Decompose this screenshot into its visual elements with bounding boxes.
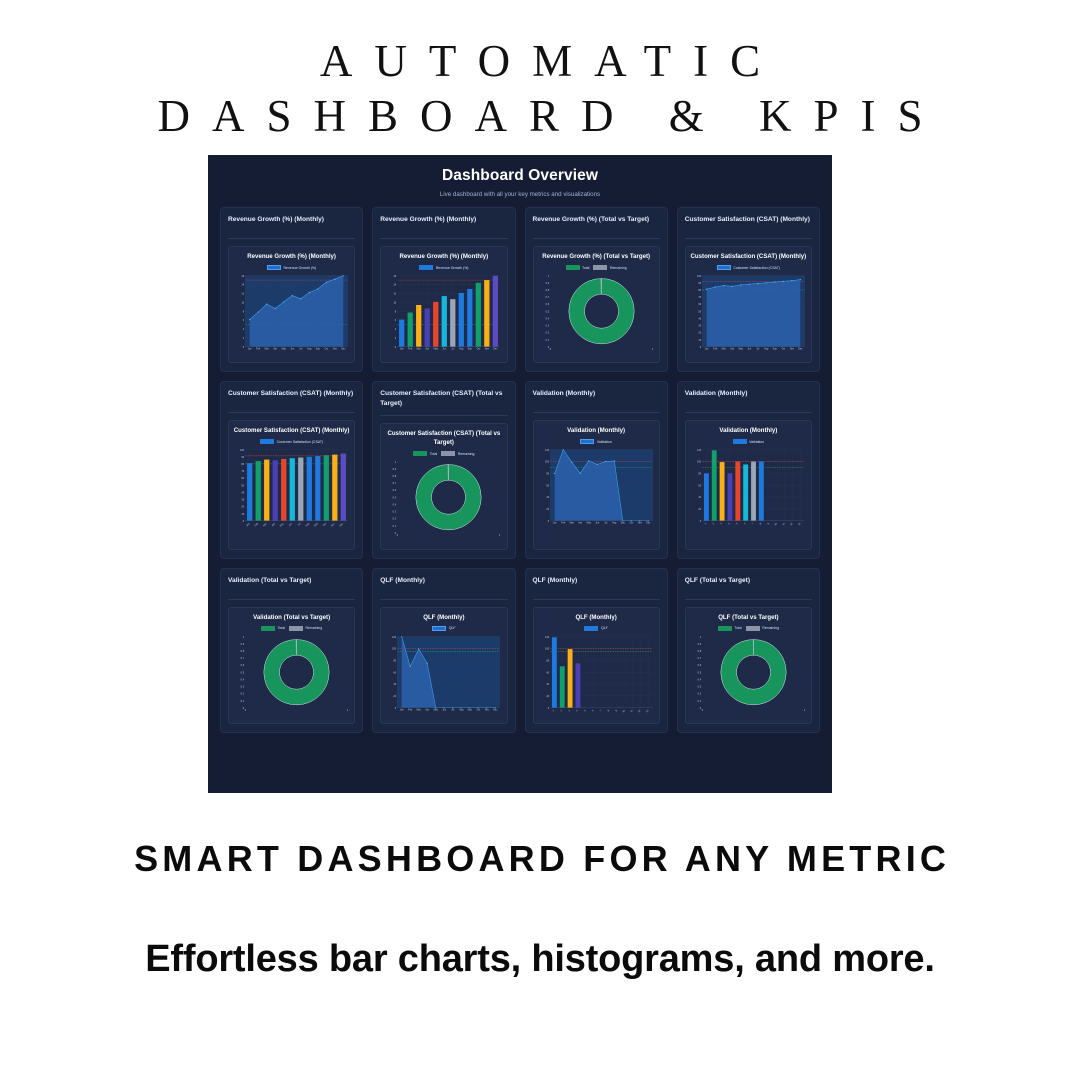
svg-text:11: 11	[629, 708, 633, 712]
chart-title: QLF (Monthly)	[385, 613, 502, 622]
svg-text:Aug: Aug	[459, 708, 464, 711]
card-header-title: Customer Satisfaction (CSAT) (Monthly)	[685, 215, 812, 239]
svg-text:30: 30	[698, 325, 701, 328]
svg-text:40: 40	[546, 496, 549, 499]
svg-text:Jun: Jun	[595, 522, 600, 525]
caption-secondary: Effortless bar charts, histograms, and m…	[0, 938, 1080, 981]
svg-text:Jun: Jun	[443, 348, 448, 351]
legend-swatch	[717, 265, 731, 270]
legend-swatch	[289, 626, 303, 631]
dashboard-screenshot: Dashboard Overview Live dashboard with a…	[208, 155, 832, 793]
svg-text:14: 14	[241, 284, 244, 287]
svg-text:16: 16	[394, 275, 397, 278]
svg-text:Aug: Aug	[307, 348, 312, 351]
svg-text:20: 20	[698, 508, 701, 511]
svg-text:0.9: 0.9	[545, 282, 549, 285]
svg-text:4: 4	[243, 328, 245, 331]
svg-text:May: May	[738, 348, 743, 351]
svg-text:0.6: 0.6	[545, 303, 549, 306]
svg-text:2: 2	[712, 522, 716, 526]
svg-text:Nov: Nov	[637, 522, 642, 525]
svg-text:1: 1	[804, 708, 806, 711]
chart-title: Revenue Growth (%) (Monthly)	[385, 252, 502, 261]
chart-legend: QLF	[538, 626, 655, 631]
dashboard-card[interactable]: Customer Satisfaction (CSAT) (Monthly)Cu…	[677, 207, 820, 372]
chart-container[interactable]: Customer Satisfaction (CSAT) (Monthly)Cu…	[685, 246, 812, 363]
svg-text:6: 6	[743, 522, 747, 526]
chart-title: Validation (Monthly)	[690, 426, 807, 435]
svg-text:Dec: Dec	[493, 348, 498, 351]
legend-item[interactable]: Remaining	[289, 626, 322, 631]
svg-text:Mar: Mar	[569, 522, 573, 525]
svg-text:0.9: 0.9	[393, 468, 397, 471]
svg-text:0.8: 0.8	[545, 289, 549, 292]
svg-text:May: May	[434, 708, 439, 711]
dashboard-header: Dashboard Overview Live dashboard with a…	[208, 155, 832, 207]
svg-text:1: 1	[704, 522, 708, 526]
legend-label: Revenue Growth (%)	[436, 266, 469, 270]
svg-text:0: 0	[547, 706, 549, 709]
svg-text:40: 40	[546, 683, 549, 686]
svg-text:8: 8	[759, 522, 763, 526]
svg-text:7: 7	[751, 522, 755, 526]
svg-text:10: 10	[241, 513, 244, 516]
chart-container[interactable]: QLF (Monthly)QLF020406080100120123456789…	[533, 607, 660, 724]
legend-item[interactable]: Total	[718, 626, 742, 631]
svg-text:0: 0	[245, 708, 247, 711]
svg-text:Dec: Dec	[798, 348, 803, 351]
legend-label: Customer Satisfaction (CSAT)	[733, 266, 780, 270]
legend-swatch	[413, 451, 427, 456]
chart-plot-area[interactable]: 0102030405060708090100JanFebMarAprMayJun…	[233, 447, 350, 532]
card-header-title: Revenue Growth (%) (Monthly)	[228, 215, 355, 239]
headline-line-1: AUTOMATIC	[0, 34, 1080, 88]
svg-text:11: 11	[782, 522, 786, 526]
legend-item[interactable]: Total	[566, 265, 590, 270]
svg-text:Mar: Mar	[417, 708, 421, 711]
svg-text:Apr: Apr	[426, 348, 430, 351]
svg-text:20: 20	[394, 695, 397, 698]
svg-text:13: 13	[645, 708, 649, 712]
card-header-title: Revenue Growth (%) (Monthly)	[380, 215, 507, 239]
svg-text:May: May	[279, 522, 285, 528]
svg-text:50: 50	[698, 310, 701, 313]
legend-swatch	[260, 439, 274, 444]
legend-swatch	[261, 626, 275, 631]
svg-text:Apr: Apr	[730, 348, 734, 351]
chart-legend: Revenue Growth (%)	[385, 265, 502, 270]
chart-container[interactable]: Revenue Growth (%) (Monthly)Revenue Grow…	[228, 246, 355, 363]
svg-text:Feb: Feb	[713, 348, 718, 351]
chart-title: Revenue Growth (%) (Total vs Target)	[538, 252, 655, 261]
legend-swatch	[267, 265, 281, 270]
dashboard-card[interactable]: Validation (Total vs Target)Validation (…	[220, 568, 363, 733]
dashboard-card[interactable]: Validation (Monthly)Validation (Monthly)…	[677, 381, 820, 558]
chart-plot-area[interactable]: 00.10.20.30.40.50.60.70.80.9101	[538, 273, 655, 358]
svg-text:Aug: Aug	[459, 348, 464, 351]
chart-legend: Customer Satisfaction (CSAT)	[690, 265, 807, 270]
legend-item[interactable]: Remaining	[593, 265, 626, 270]
svg-text:100: 100	[544, 647, 549, 650]
svg-text:20: 20	[241, 506, 244, 509]
svg-text:Oct: Oct	[781, 348, 785, 351]
card-header-title: Customer Satisfaction (CSAT) (Monthly)	[228, 389, 355, 413]
svg-text:0: 0	[699, 520, 701, 523]
chart-container[interactable]: Validation (Monthly)Validation0204060801…	[685, 420, 812, 549]
svg-text:12: 12	[394, 293, 397, 296]
svg-text:70: 70	[698, 296, 701, 299]
dashboard-card[interactable]: Revenue Growth (%) (Monthly)Revenue Grow…	[220, 207, 363, 372]
chart-legend: TotalRemaining	[233, 626, 350, 631]
chart-container[interactable]: Revenue Growth (%) (Monthly)Revenue Grow…	[380, 246, 507, 363]
svg-text:2: 2	[559, 708, 563, 712]
svg-text:40: 40	[241, 492, 244, 495]
chart-container[interactable]: Validation (Monthly)Validation0204060801…	[533, 420, 660, 549]
svg-text:120: 120	[544, 449, 549, 452]
svg-text:0.2: 0.2	[545, 332, 549, 335]
svg-text:Aug: Aug	[305, 522, 311, 528]
svg-text:Feb: Feb	[256, 348, 261, 351]
svg-text:20: 20	[546, 695, 549, 698]
legend-swatch	[718, 626, 732, 631]
svg-text:0.9: 0.9	[697, 642, 701, 645]
svg-text:Sep: Sep	[772, 348, 777, 351]
legend-swatch	[746, 626, 760, 631]
svg-text:Feb: Feb	[408, 708, 413, 711]
svg-text:0.1: 0.1	[697, 699, 701, 702]
card-header-title: Validation (Monthly)	[533, 389, 660, 413]
svg-text:0: 0	[243, 346, 245, 349]
chart-container[interactable]: QLF (Total vs Target)TotalRemaining00.10…	[685, 607, 812, 724]
svg-text:Aug: Aug	[612, 522, 617, 525]
chart-title: Validation (Monthly)	[538, 426, 655, 435]
legend-item[interactable]: Customer Satisfaction (CSAT)	[717, 265, 780, 270]
chart-legend: TotalRemaining	[385, 451, 502, 456]
svg-text:Sep: Sep	[620, 522, 625, 525]
svg-text:Jul: Jul	[299, 348, 303, 351]
svg-text:Sep: Sep	[313, 522, 319, 528]
svg-text:0.3: 0.3	[697, 685, 701, 688]
svg-text:0.5: 0.5	[545, 310, 549, 313]
chart-container[interactable]: Customer Satisfaction (CSAT) (Total vs T…	[380, 423, 507, 549]
svg-text:90: 90	[698, 282, 701, 285]
svg-text:Nov: Nov	[485, 708, 490, 711]
chart-plot-area[interactable]: 00.10.20.30.40.50.60.70.80.9101	[690, 634, 807, 719]
chart-legend: Revenue Growth (%)	[233, 265, 350, 270]
legend-item[interactable]: QLF	[432, 626, 455, 631]
svg-text:Nov: Nov	[789, 348, 794, 351]
svg-text:0: 0	[243, 520, 245, 523]
svg-text:20: 20	[698, 332, 701, 335]
card-header-title: Validation (Monthly)	[685, 389, 812, 413]
svg-text:60: 60	[394, 671, 397, 674]
svg-text:70: 70	[241, 470, 244, 473]
svg-text:Dec: Dec	[339, 522, 345, 528]
svg-text:0: 0	[395, 346, 397, 349]
chart-title: Customer Satisfaction (CSAT) (Total vs T…	[385, 429, 502, 447]
svg-text:Oct: Oct	[629, 522, 633, 525]
svg-text:Mar: Mar	[721, 348, 725, 351]
svg-text:60: 60	[698, 485, 701, 488]
svg-text:3: 3	[567, 708, 571, 712]
svg-text:Sep: Sep	[468, 708, 473, 711]
chart-legend: Validation	[690, 439, 807, 444]
svg-text:4: 4	[727, 522, 731, 526]
svg-text:Jan: Jan	[552, 522, 557, 525]
svg-text:0.7: 0.7	[241, 657, 245, 660]
svg-text:1: 1	[552, 708, 556, 712]
svg-text:120: 120	[697, 449, 702, 452]
svg-text:8: 8	[395, 310, 397, 313]
dashboard-card[interactable]: Validation (Monthly)Validation (Monthly)…	[525, 381, 668, 558]
dashboard-card[interactable]: Revenue Growth (%) (Monthly)Revenue Grow…	[372, 207, 515, 372]
chart-container[interactable]: Validation (Total vs Target)TotalRemaini…	[228, 607, 355, 724]
legend-item[interactable]: Validation	[733, 439, 765, 444]
svg-text:100: 100	[697, 275, 702, 278]
chart-plot-area[interactable]: 0102030405060708090100JanFebMarAprMayJun…	[690, 273, 807, 358]
svg-text:0.2: 0.2	[393, 518, 397, 521]
legend-label: Customer Satisfaction (CSAT)	[277, 440, 324, 444]
svg-text:Sep: Sep	[468, 348, 473, 351]
svg-text:2: 2	[395, 337, 397, 340]
chart-plot-area[interactable]: 00.10.20.30.40.50.60.70.80.9101	[385, 459, 502, 544]
legend-label: QLF	[601, 626, 608, 630]
svg-text:2: 2	[243, 337, 245, 340]
svg-text:0: 0	[395, 706, 397, 709]
svg-text:Dec: Dec	[493, 708, 498, 711]
legend-label: Total	[430, 452, 437, 456]
legend-label: Total	[734, 626, 741, 630]
chart-plot-area[interactable]: 0246810121416JanFebMarAprMayJunJulAugSep…	[385, 273, 502, 358]
svg-text:Mar: Mar	[417, 348, 421, 351]
dashboard-card[interactable]: QLF (Monthly)QLF (Monthly)QLF02040608010…	[372, 568, 515, 733]
legend-swatch	[584, 626, 598, 631]
legend-label: Remaining	[610, 266, 627, 270]
card-header-title: Validation (Total vs Target)	[228, 576, 355, 600]
svg-text:Nov: Nov	[485, 348, 490, 351]
legend-swatch	[580, 439, 594, 444]
svg-text:0.3: 0.3	[545, 325, 549, 328]
svg-text:40: 40	[698, 317, 701, 320]
svg-text:Dec: Dec	[646, 522, 651, 525]
svg-text:Dec: Dec	[341, 348, 346, 351]
svg-text:Oct: Oct	[324, 348, 328, 351]
legend-item[interactable]: Revenue Growth (%)	[419, 265, 468, 270]
svg-text:80: 80	[546, 473, 549, 476]
svg-text:0: 0	[699, 346, 701, 349]
svg-text:Feb: Feb	[254, 522, 259, 527]
legend-label: Remaining	[305, 626, 322, 630]
svg-text:100: 100	[697, 461, 702, 464]
svg-text:4: 4	[395, 328, 397, 331]
svg-text:Sep: Sep	[316, 348, 321, 351]
svg-text:Jun: Jun	[288, 522, 293, 527]
chart-legend: Validation	[538, 439, 655, 444]
card-header-title: Customer Satisfaction (CSAT) (Total vs T…	[380, 389, 507, 416]
svg-text:May: May	[434, 348, 439, 351]
chart-legend: Customer Satisfaction (CSAT)	[233, 439, 350, 444]
svg-text:0.6: 0.6	[697, 664, 701, 667]
svg-text:Feb: Feb	[561, 522, 566, 525]
svg-text:10: 10	[698, 339, 701, 342]
svg-text:50: 50	[241, 485, 244, 488]
svg-text:Jan: Jan	[400, 708, 405, 711]
chart-plot-area[interactable]: 02040608010012012345678910111213	[690, 447, 807, 532]
chart-legend: QLF	[385, 626, 502, 631]
svg-text:Jun: Jun	[747, 348, 752, 351]
svg-text:Feb: Feb	[408, 348, 413, 351]
svg-text:Nov: Nov	[333, 348, 338, 351]
svg-text:40: 40	[394, 683, 397, 686]
caption-primary: SMART DASHBOARD FOR ANY METRIC	[0, 838, 1080, 880]
legend-item[interactable]: Remaining	[441, 451, 474, 456]
svg-text:13: 13	[797, 522, 801, 526]
legend-swatch	[419, 265, 433, 270]
svg-text:0.5: 0.5	[393, 497, 397, 500]
svg-text:0.8: 0.8	[393, 475, 397, 478]
page-title: Dashboard Overview	[208, 167, 832, 185]
chart-title: QLF (Monthly)	[538, 613, 655, 622]
svg-text:6: 6	[243, 319, 245, 322]
svg-text:60: 60	[698, 303, 701, 306]
legend-swatch	[566, 265, 580, 270]
svg-text:100: 100	[392, 647, 397, 650]
dashboard-card[interactable]: Customer Satisfaction (CSAT) (Monthly)Cu…	[220, 381, 363, 558]
chart-legend: TotalRemaining	[538, 265, 655, 270]
chart-plot-area[interactable]: 00.10.20.30.40.50.60.70.80.9101	[233, 634, 350, 719]
legend-item[interactable]: QLF	[584, 626, 607, 631]
svg-text:7: 7	[599, 708, 603, 712]
svg-text:Jan: Jan	[400, 348, 405, 351]
dashboard-card[interactable]: Revenue Growth (%) (Total vs Target)Reve…	[525, 207, 668, 372]
svg-text:1: 1	[547, 275, 549, 278]
chart-title: Customer Satisfaction (CSAT) (Monthly)	[233, 426, 350, 435]
svg-text:Jul: Jul	[451, 708, 455, 711]
svg-text:1: 1	[699, 635, 701, 638]
legend-swatch	[593, 265, 607, 270]
svg-text:80: 80	[698, 473, 701, 476]
chart-plot-area[interactable]: 020406080100120JanFebMarAprMayJunJulAugS…	[538, 447, 655, 532]
legend-label: Remaining	[458, 452, 475, 456]
chart-container[interactable]: Customer Satisfaction (CSAT) (Monthly)Cu…	[228, 420, 355, 549]
legend-item[interactable]: Validation	[580, 439, 612, 444]
dashboard-card[interactable]: QLF (Monthly)QLF (Monthly)QLF02040608010…	[525, 568, 668, 733]
headline-line-2: DASHBOARD & KPIS	[0, 88, 1080, 144]
svg-text:0.9: 0.9	[241, 642, 245, 645]
svg-text:120: 120	[392, 635, 397, 638]
svg-text:0.4: 0.4	[241, 678, 245, 681]
svg-text:60: 60	[546, 485, 549, 488]
svg-text:0.4: 0.4	[393, 504, 397, 507]
svg-text:0.5: 0.5	[697, 671, 701, 674]
svg-text:Apr: Apr	[271, 522, 276, 527]
svg-text:9: 9	[614, 708, 618, 712]
chart-title: QLF (Total vs Target)	[690, 613, 807, 622]
svg-text:10: 10	[774, 522, 778, 526]
svg-text:0.5: 0.5	[241, 671, 245, 674]
svg-text:Jul: Jul	[297, 522, 302, 527]
legend-swatch	[441, 451, 455, 456]
svg-text:12: 12	[637, 708, 641, 712]
svg-text:Jan: Jan	[246, 522, 251, 527]
chart-container[interactable]: Revenue Growth (%) (Total vs Target)Tota…	[533, 246, 660, 363]
svg-text:0.3: 0.3	[241, 685, 245, 688]
svg-text:0.3: 0.3	[393, 511, 397, 514]
chart-plot-area[interactable]: 02040608010012012345678910111213	[538, 634, 655, 719]
svg-text:May: May	[586, 522, 591, 525]
svg-text:Apr: Apr	[578, 522, 582, 525]
svg-text:12: 12	[789, 522, 793, 526]
legend-item[interactable]: Total	[413, 451, 437, 456]
svg-text:0.7: 0.7	[697, 657, 701, 660]
svg-text:0.7: 0.7	[545, 296, 549, 299]
chart-plot-area[interactable]: 0246810121416JanFebMarAprMayJunJulAugSep…	[233, 273, 350, 358]
legend-label: Revenue Growth (%)	[284, 266, 317, 270]
chart-plot-area[interactable]: 020406080100120JanFebMarAprMayJunJulAugS…	[385, 634, 502, 719]
svg-text:Apr: Apr	[273, 348, 277, 351]
svg-text:Mar: Mar	[265, 348, 269, 351]
svg-text:Jun: Jun	[443, 708, 448, 711]
svg-text:8: 8	[607, 708, 611, 712]
dashboard-card-grid: Revenue Growth (%) (Monthly)Revenue Grow…	[208, 207, 832, 733]
svg-text:30: 30	[241, 499, 244, 502]
svg-text:0.6: 0.6	[393, 490, 397, 493]
svg-text:Oct: Oct	[477, 348, 481, 351]
dashboard-card[interactable]: QLF (Total vs Target)QLF (Total vs Targe…	[677, 568, 820, 733]
svg-text:9: 9	[767, 522, 771, 526]
svg-text:0.8: 0.8	[697, 650, 701, 653]
svg-text:1: 1	[243, 635, 245, 638]
svg-text:4: 4	[575, 708, 579, 712]
svg-text:0: 0	[547, 520, 549, 523]
svg-text:6: 6	[591, 708, 595, 712]
svg-text:Jul: Jul	[604, 522, 608, 525]
legend-swatch	[733, 439, 747, 444]
legend-label: Total	[582, 266, 589, 270]
svg-text:Jan: Jan	[248, 348, 253, 351]
card-header-title: Revenue Growth (%) (Total vs Target)	[533, 215, 660, 239]
svg-text:10: 10	[394, 301, 397, 304]
svg-text:100: 100	[240, 449, 245, 452]
legend-label: QLF	[449, 626, 456, 630]
legend-swatch	[432, 626, 446, 631]
svg-text:3: 3	[719, 522, 723, 526]
legend-item[interactable]: Customer Satisfaction (CSAT)	[260, 439, 323, 444]
svg-text:0.1: 0.1	[241, 699, 245, 702]
svg-text:5: 5	[583, 708, 587, 712]
legend-label: Total	[278, 626, 285, 630]
legend-item[interactable]: Revenue Growth (%)	[267, 265, 316, 270]
svg-text:40: 40	[698, 496, 701, 499]
svg-text:0.2: 0.2	[241, 692, 245, 695]
svg-text:Nov: Nov	[330, 522, 336, 528]
legend-item[interactable]: Total	[261, 626, 285, 631]
svg-text:0.1: 0.1	[545, 339, 549, 342]
svg-text:80: 80	[394, 659, 397, 662]
page-subtitle: Live dashboard with all your key metrics…	[208, 191, 832, 198]
dashboard-card[interactable]: Customer Satisfaction (CSAT) (Total vs T…	[372, 381, 515, 558]
svg-text:0: 0	[397, 534, 399, 537]
legend-item[interactable]: Remaining	[746, 626, 779, 631]
svg-text:0.4: 0.4	[697, 678, 701, 681]
card-header-title: QLF (Monthly)	[380, 576, 507, 600]
legend-label: Validation	[597, 440, 612, 444]
svg-text:Jul: Jul	[756, 348, 760, 351]
chart-container[interactable]: QLF (Monthly)QLF020406080100120JanFebMar…	[380, 607, 507, 724]
svg-text:0: 0	[549, 348, 551, 351]
svg-text:5: 5	[735, 522, 739, 526]
card-header-title: QLF (Total vs Target)	[685, 576, 812, 600]
